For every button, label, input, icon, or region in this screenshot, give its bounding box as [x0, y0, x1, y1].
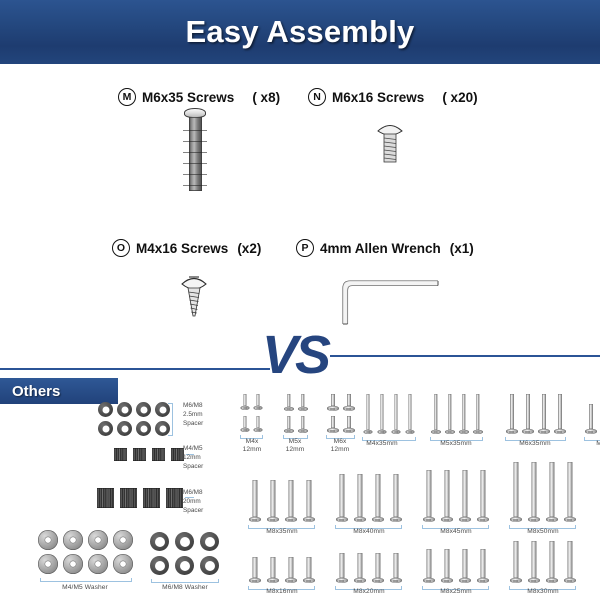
- divider-line-left: [0, 368, 270, 370]
- screw-label-m8x35: M8x35mm: [242, 528, 322, 536]
- screw-label-m8x16: M8x16mm: [242, 588, 322, 596]
- hardware-label-m: M M6x35 Screws ( x8): [118, 88, 280, 106]
- hardware-name-m: M6x35 Screws: [142, 90, 234, 105]
- hardware-qty-m: ( x8): [252, 90, 280, 105]
- vs-label: VS: [262, 328, 328, 382]
- screw-icon-m6x16: [375, 120, 405, 166]
- screw-label-m8x50: M8x50mm: [503, 528, 583, 536]
- assembly-hardware-infographic: Easy Assembly M M6x35 Screws ( x8) N M6x…: [0, 0, 600, 600]
- hardware-label-o: O M4x16 Screws (x2): [112, 239, 261, 257]
- screw-svg-m6x16: [375, 120, 405, 166]
- hardware-label-n: N M6x16 Screws ( x20): [308, 88, 478, 106]
- included-hardware-section: M M6x35 Screws ( x8) N M6x16 Screws ( x2…: [0, 64, 600, 342]
- washer-label-m4m5: M4/M5 Washer: [30, 584, 140, 592]
- screw-label-m8x25: M8x25mm: [416, 588, 496, 596]
- hardware-name-n: M6x16 Screws: [332, 90, 424, 105]
- screw-label-m6x20: M6x20mm: [572, 440, 600, 448]
- header-banner: Easy Assembly: [0, 0, 600, 64]
- badge-letter-m: M: [118, 88, 136, 106]
- hardware-name-p: 4mm Allen Wrench: [320, 241, 441, 256]
- others-hardware-section: M6/M8 2.5mm Spacer M4/M5 12mm Spacer M6/…: [0, 392, 600, 600]
- hardware-qty-n: ( x20): [442, 90, 477, 105]
- screw-label-m8x30: M8x30mm: [503, 588, 583, 596]
- screw-icon-m6x35: [183, 108, 207, 193]
- screw-svg-m4x16: [178, 272, 210, 320]
- washer-label-m6m8: M6/M8 Washer: [140, 584, 230, 592]
- badge-letter-n: N: [308, 88, 326, 106]
- hardware-label-p: P 4mm Allen Wrench (x1): [296, 239, 474, 257]
- badge-letter-p: P: [296, 239, 314, 257]
- badge-letter-o: O: [112, 239, 130, 257]
- screw-label-m4x12: M4x 12mm: [232, 438, 272, 455]
- allen-wrench-icon: [330, 264, 440, 326]
- others-badge-label: Others: [12, 383, 60, 400]
- hardware-name-o: M4x16 Screws: [136, 241, 228, 256]
- screw-label-m5x12: M5x 12mm: [275, 438, 315, 455]
- screw-label-m5x35: M5x35mm: [416, 440, 496, 448]
- screw-label-m6x35-grid: M6x35mm: [495, 440, 575, 448]
- hardware-qty-p: (x1): [450, 241, 474, 256]
- hardware-qty-o: (x2): [237, 241, 261, 256]
- spacer-label-m6m8-20mm: M6/M8 20mm Spacer: [183, 488, 243, 515]
- screw-label-m8x45: M8x45mm: [416, 528, 496, 536]
- screw-label-m8x40: M8x40mm: [329, 528, 409, 536]
- screw-label-m8x20: M8x20mm: [329, 588, 409, 596]
- page-title: Easy Assembly: [186, 14, 415, 50]
- spacer-label-m6m8-2-5mm: M6/M8 2.5mm Spacer: [183, 401, 243, 428]
- divider-line-right: [330, 355, 600, 357]
- screw-label-m4x35: M4x35mm: [342, 440, 422, 448]
- screw-icon-m4x16: [178, 272, 210, 320]
- allen-wrench-svg: [330, 264, 440, 326]
